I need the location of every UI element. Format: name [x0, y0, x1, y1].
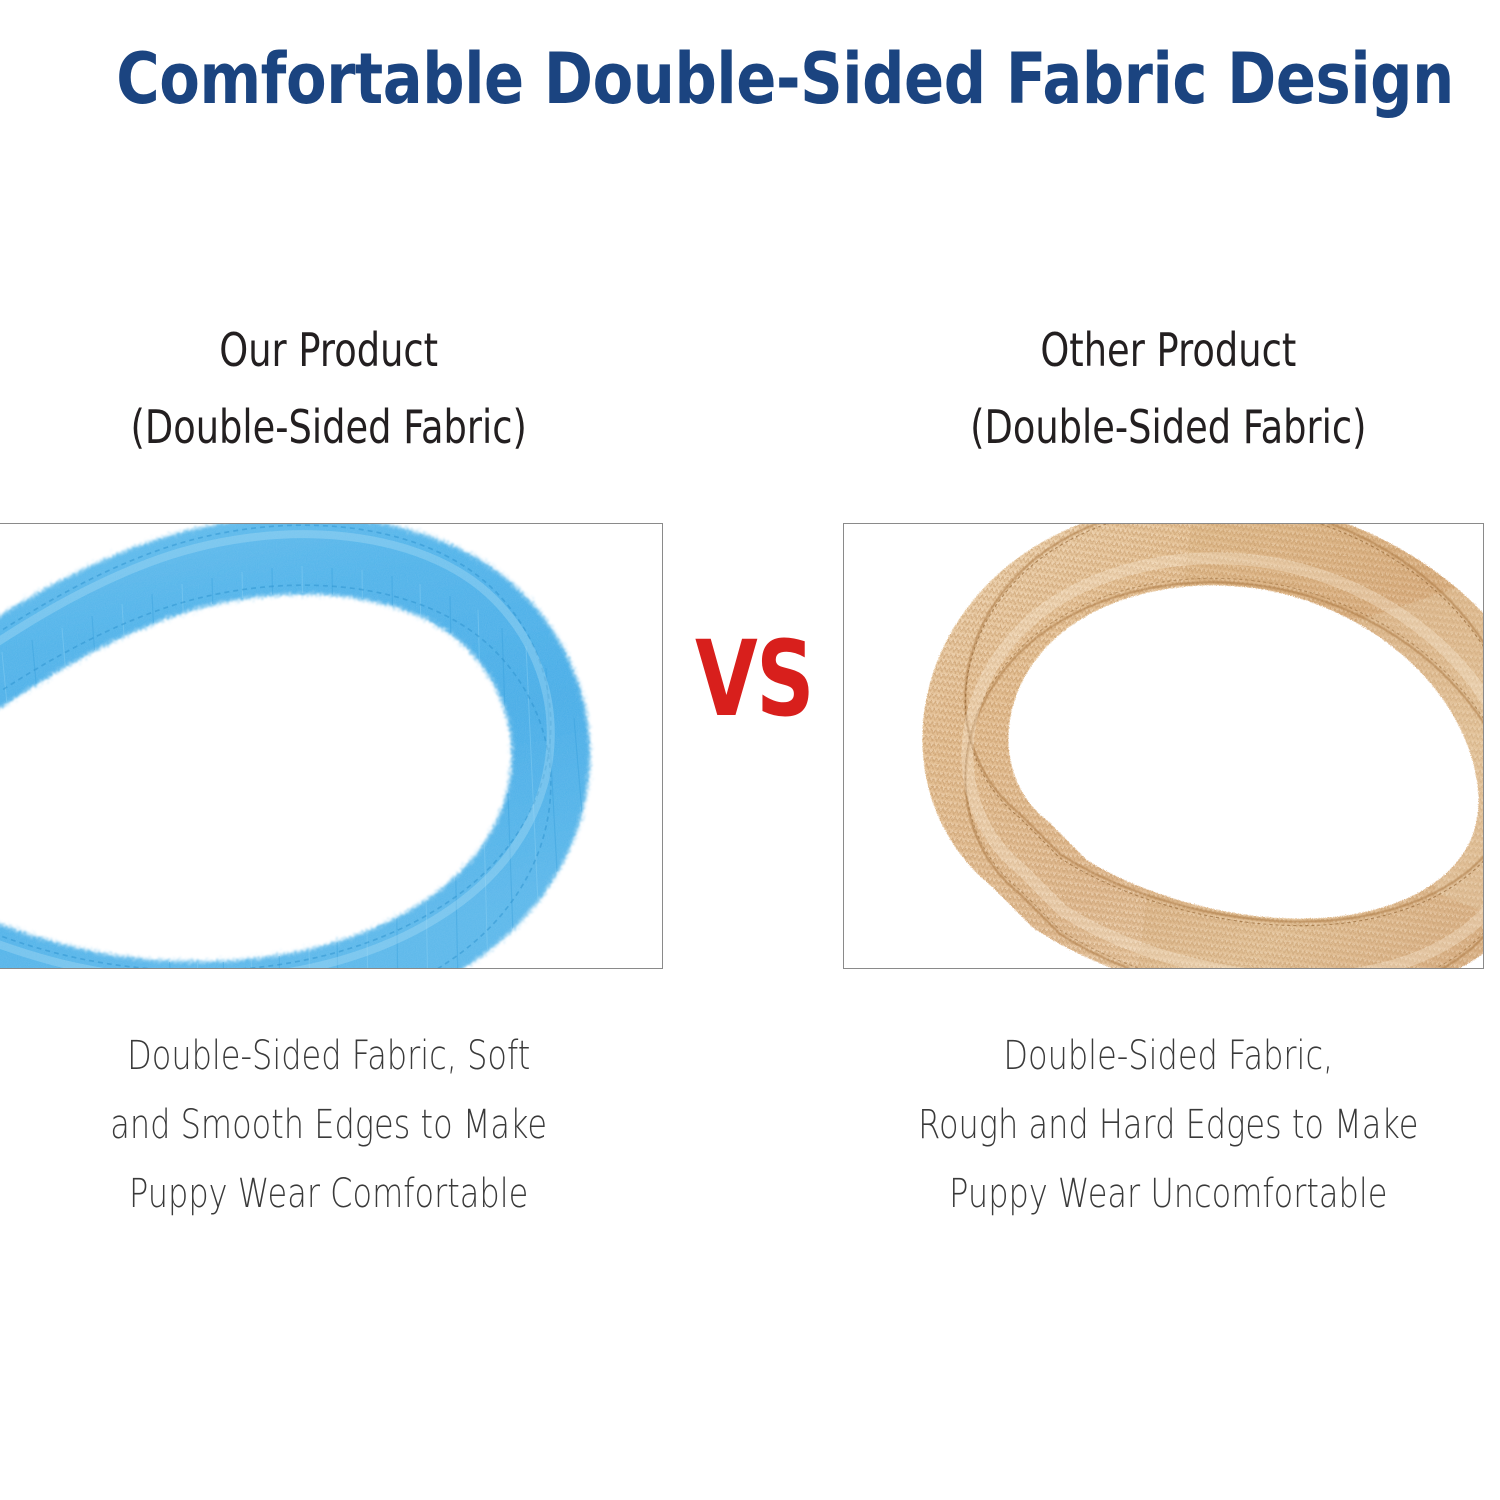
other-product-caption-line-3: Puppy Wear Uncomfortable	[908, 1160, 1428, 1229]
other-product-caption-line-2: Rough and Hard Edges to Make	[908, 1091, 1428, 1160]
our-product-caption-line-3: Puppy Wear Comfortable	[65, 1160, 593, 1229]
blue-fabric-strap-image	[0, 524, 662, 968]
right-column-heading: Other Product (Double-Sided Fabric)	[908, 312, 1428, 466]
our-product-photo-frame	[0, 523, 663, 969]
left-column-heading: Our Product (Double-Sided Fabric)	[65, 312, 593, 466]
other-product-photo-frame	[843, 523, 1484, 969]
other-product-caption: Double-Sided Fabric, Rough and Hard Edge…	[908, 1022, 1428, 1229]
vs-label: VS	[684, 619, 824, 739]
our-product-caption-line-2: and Smooth Edges to Make	[65, 1091, 593, 1160]
right-heading-line-1: Other Product	[908, 312, 1428, 389]
our-product-caption: Double-Sided Fabric, Soft and Smooth Edg…	[65, 1022, 593, 1229]
our-product-caption-line-1: Double-Sided Fabric, Soft	[65, 1022, 593, 1091]
other-product-photo	[844, 524, 1483, 968]
beige-fabric-strap-image	[844, 524, 1483, 968]
other-product-caption-line-1: Double-Sided Fabric,	[908, 1022, 1428, 1091]
page-title: Comfortable Double-Sided Fabric Design	[116, 44, 1384, 114]
left-heading-line-2: (Double-Sided Fabric)	[65, 389, 593, 466]
right-heading-line-2: (Double-Sided Fabric)	[908, 389, 1428, 466]
left-heading-line-1: Our Product	[65, 312, 593, 389]
our-product-photo	[0, 524, 662, 968]
